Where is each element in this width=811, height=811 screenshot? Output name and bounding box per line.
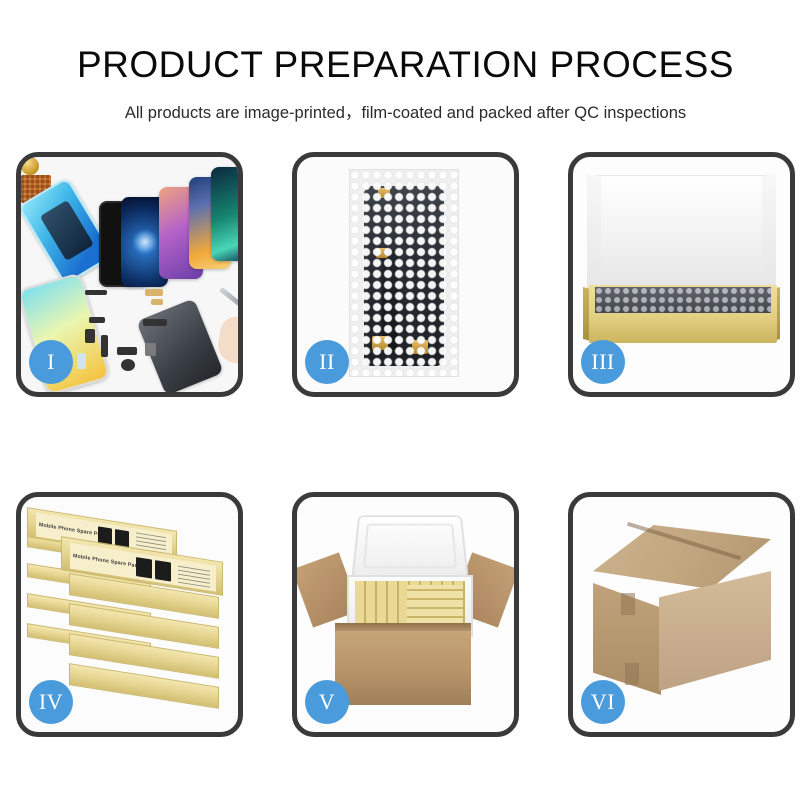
camera-lens-part bbox=[121, 359, 135, 371]
carton-body bbox=[335, 623, 471, 705]
vibration-motor bbox=[85, 329, 95, 343]
product-preparation-process-page: PRODUCT PREPARATION PROCESS All products… bbox=[0, 0, 811, 811]
connector-part bbox=[89, 317, 105, 323]
process-step-card-3[interactable]: III bbox=[568, 152, 795, 397]
step-badge-4: IV bbox=[29, 680, 73, 724]
metal-bracket bbox=[145, 343, 156, 356]
carton-right-face bbox=[659, 571, 771, 691]
retail-box-brand-front: Mobile Phone Spare Parts bbox=[73, 553, 142, 570]
gold-coil-part bbox=[21, 157, 39, 175]
flex-ribbon bbox=[101, 335, 108, 357]
lid-flap-left bbox=[587, 174, 601, 294]
small-part-strip bbox=[85, 290, 107, 295]
bubble-wrap-bag bbox=[349, 169, 459, 377]
process-step-card-4[interactable]: Mobile Phone Spare Parts Mobile Phone Sp… bbox=[16, 492, 243, 737]
process-step-card-5[interactable]: V bbox=[292, 492, 519, 737]
step-badge-2: II bbox=[305, 340, 349, 384]
step-badge-5: V bbox=[305, 680, 349, 724]
bubble-texture bbox=[350, 170, 458, 376]
sim-tray-part bbox=[77, 353, 86, 369]
label-spec-lines-front bbox=[178, 564, 210, 588]
page-header: PRODUCT PREPARATION PROCESS All products… bbox=[0, 0, 811, 123]
step-badge-1: I bbox=[29, 340, 73, 384]
page-title: PRODUCT PREPARATION PROCESS bbox=[0, 44, 811, 86]
tweezers-tool-icon bbox=[219, 287, 243, 312]
teal-gradient-phone bbox=[211, 167, 243, 261]
process-step-card-2[interactable]: II bbox=[292, 152, 519, 397]
carton-tape-lower bbox=[625, 663, 639, 685]
gold-flex-cable bbox=[145, 289, 163, 296]
carton-tape-upper bbox=[621, 593, 635, 615]
step-badge-3: III bbox=[581, 340, 625, 384]
label-product-photo-c bbox=[136, 557, 152, 579]
step-badge-6: VI bbox=[581, 680, 625, 724]
technician-hand bbox=[215, 314, 243, 366]
speaker-part bbox=[117, 347, 137, 355]
foam-box-lid bbox=[351, 515, 468, 578]
gold-boxes-second-row bbox=[407, 585, 463, 625]
process-step-card-6[interactable]: VI bbox=[568, 492, 795, 737]
process-steps-grid: I II bbox=[16, 152, 795, 737]
white-box-lid bbox=[597, 175, 769, 297]
antenna-cable bbox=[143, 319, 167, 326]
process-step-card-1[interactable]: I bbox=[16, 152, 243, 397]
page-subtitle: All products are image-printed，film-coat… bbox=[0, 99, 811, 123]
bubble-wrapped-contents bbox=[595, 287, 771, 313]
label-product-photo-d bbox=[155, 560, 171, 582]
lid-flap-right bbox=[762, 174, 776, 294]
gold-connector bbox=[151, 299, 163, 305]
